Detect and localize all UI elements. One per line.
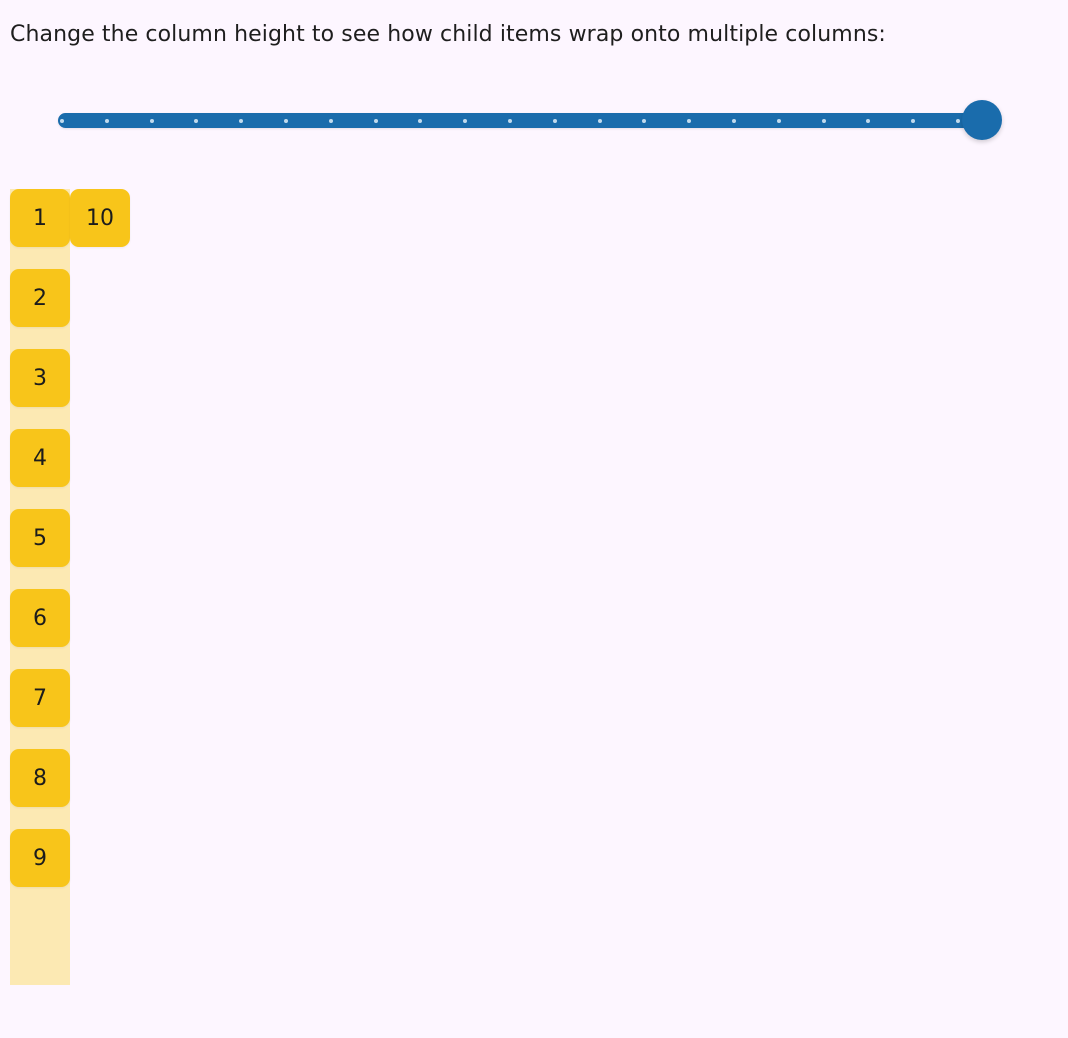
column-item-label: 3 <box>33 366 47 391</box>
column-item-label: 7 <box>33 686 47 711</box>
column-item-label: 2 <box>33 286 47 311</box>
column-item: 9 <box>10 829 70 887</box>
column-item-label: 10 <box>86 206 114 231</box>
slider-thumb[interactable] <box>962 100 1002 140</box>
column-item: 5 <box>10 509 70 567</box>
column-height-slider[interactable] <box>58 100 982 142</box>
flex-column-container: 12345678910 <box>10 189 70 985</box>
column-item-label: 5 <box>33 526 47 551</box>
column-item: 7 <box>10 669 70 727</box>
slider-track[interactable] <box>58 113 982 128</box>
column-item: 2 <box>10 269 70 327</box>
column-item: 3 <box>10 349 70 407</box>
column-item: 8 <box>10 749 70 807</box>
column-item-label: 4 <box>33 446 47 471</box>
column-item-label: 9 <box>33 846 47 871</box>
column-item-label: 6 <box>33 606 47 631</box>
column-item: 10 <box>70 189 130 247</box>
column-item: 6 <box>10 589 70 647</box>
page-title: Change the column height to see how chil… <box>10 20 886 50</box>
column-item: 4 <box>10 429 70 487</box>
column-item-label: 1 <box>33 206 47 231</box>
column-item-label: 8 <box>33 766 47 791</box>
column-item: 1 <box>10 189 70 247</box>
